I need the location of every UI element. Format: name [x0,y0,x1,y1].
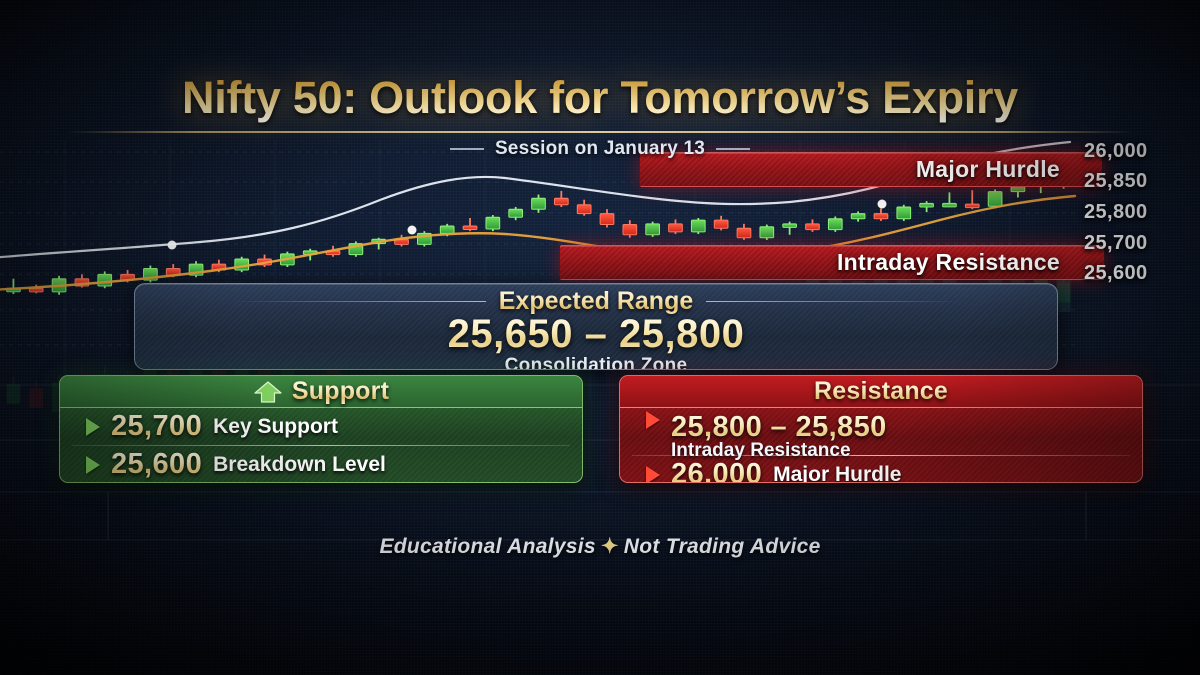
support-row-label: Breakdown Level [213,453,386,477]
footer-right-text: Not Trading Advice [624,535,821,558]
band-intraday-resistance-label: Intraday Resistance [837,249,1060,276]
resistance-title: Resistance [814,377,948,406]
subtitle-text: Session on January 13 [495,138,705,160]
triangle-bullet-icon [646,466,660,484]
axis-tick-25600: 25,600 [1084,262,1148,285]
footer-disclaimer: Educational Analysis✦Not Trading Advice [0,534,1200,559]
resistance-row-value: 25,800 – 25,850 [671,411,887,444]
footer-left-text: Educational Analysis [379,535,595,558]
range-rule-left [231,301,486,302]
range-rule-right [706,301,961,302]
support-row-label: Key Support [213,415,338,439]
resistance-row-label: Major Hurdle [773,463,901,484]
resistance-rows: 25,800 – 25,850 Intraday Resistance 26,0… [620,408,1142,483]
band-major-hurdle-label: Major Hurdle [916,156,1060,183]
header: Nifty 50: Outlook for Tomorrow’s Expiry … [0,0,1200,160]
infographic-canvas: Major Hurdle Intraday Resistance 26,000 … [0,0,1200,675]
support-panel: Support 25,700 Key Support 25,600 Breakd… [59,375,583,483]
ma-marker [168,241,177,250]
ma-marker [878,200,887,209]
title-divider [66,131,1134,133]
triangle-bullet-icon [86,418,100,436]
support-row-value: 25,700 [111,410,202,443]
page-title: Nifty 50: Outlook for Tomorrow’s Expiry [0,0,1200,124]
support-title: Support [292,377,389,406]
subtitle-dash-right [716,148,750,150]
resistance-row-content: 25,800 – 25,850 Intraday Resistance [671,411,887,462]
price-axis: 26,000 25,850 25,800 25,700 25,600 [1078,140,1200,290]
subtitle-row: Session on January 13 [0,138,1200,160]
ma-marker [408,226,417,235]
subtitle-dash-left [450,148,484,150]
resistance-row-intraday: 25,800 – 25,850 Intraday Resistance [620,408,1142,455]
up-arrow-icon [253,380,283,404]
support-row-breakdown: 25,600 Breakdown Level [60,446,582,483]
axis-tick-25800: 25,800 [1084,201,1148,224]
axis-tick-25850: 25,850 [1084,170,1148,193]
support-rows: 25,700 Key Support 25,600 Breakdown Leve… [60,408,582,483]
support-row-key: 25,700 Key Support [60,408,582,445]
star-icon: ✦ [596,535,624,558]
axis-tick-25700: 25,700 [1084,232,1148,255]
expected-range-header: Expected Range [135,289,1057,313]
expected-range-panel: Expected Range 25,650 – 25,800 Consolida… [134,283,1058,370]
resistance-panel: Resistance 25,800 – 25,850 Intraday Resi… [619,375,1143,483]
resistance-row-value: 26,000 [671,458,762,483]
triangle-bullet-icon [86,456,100,474]
triangle-bullet-icon [646,411,660,429]
support-row-value: 25,600 [111,448,202,481]
band-intraday-resistance: Intraday Resistance [560,245,1104,280]
resistance-header: Resistance [620,376,1142,408]
expected-range-subtitle: Consolidation Zone [135,355,1057,370]
expected-range-value: 25,650 – 25,800 [135,312,1057,357]
support-header: Support [60,376,582,408]
